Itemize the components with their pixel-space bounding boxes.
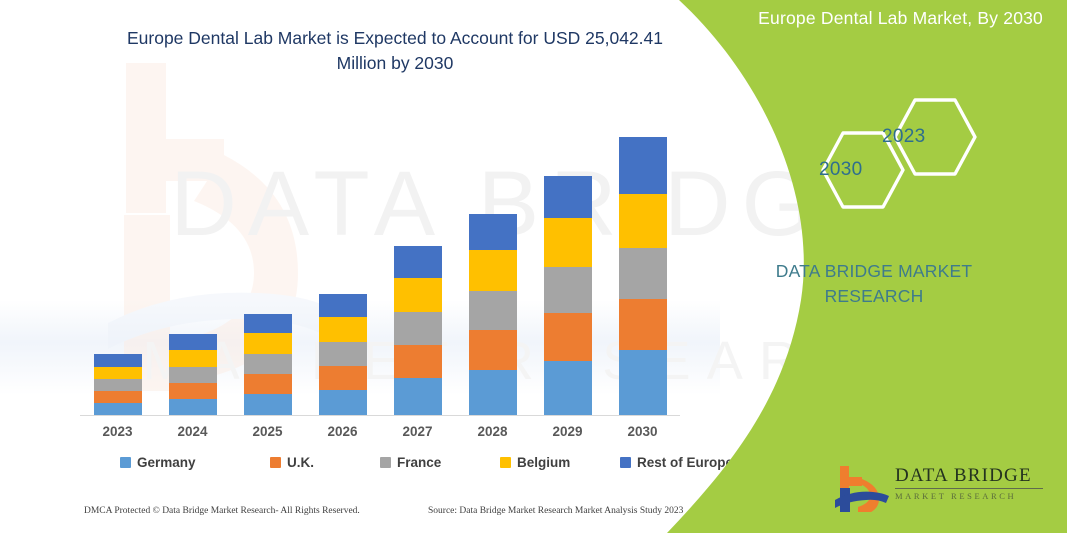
bar-segment-2029-germany <box>544 361 592 416</box>
bar-segment-2030-rest-of-europe <box>619 137 667 194</box>
chart-legend: GermanyU.K.FranceBelgiumRest of Europe <box>120 455 660 477</box>
legend-label: Germany <box>137 455 196 470</box>
bar-segment-2025-u-k <box>244 374 292 394</box>
bar-2029 <box>544 176 592 416</box>
bar-segment-2030-belgium <box>619 194 667 248</box>
legend-label: Belgium <box>517 455 570 470</box>
legend-swatch <box>500 457 511 468</box>
bar-segment-2028-france <box>469 291 517 330</box>
legend-item-belgium: Belgium <box>500 455 570 470</box>
legend-label: U.K. <box>287 455 314 470</box>
legend-swatch <box>120 457 131 468</box>
bar-segment-2028-germany <box>469 370 517 416</box>
bar-2028 <box>469 214 517 416</box>
legend-label: France <box>397 455 441 470</box>
bar-segment-2029-belgium <box>544 218 592 267</box>
logo-divider <box>895 488 1043 489</box>
x-axis-label-2026: 2026 <box>308 424 378 439</box>
x-axis-label-2027: 2027 <box>383 424 453 439</box>
x-axis-label-2029: 2029 <box>533 424 603 439</box>
bar-segment-2029-rest-of-europe <box>544 176 592 218</box>
bar-2023 <box>94 354 142 416</box>
bar-2026 <box>319 294 367 416</box>
bar-segment-2025-rest-of-europe <box>244 314 292 333</box>
x-axis-label-2024: 2024 <box>158 424 228 439</box>
bar-segment-2027-germany <box>394 378 442 416</box>
bar-segment-2026-rest-of-europe <box>319 294 367 317</box>
legend-swatch <box>380 457 391 468</box>
legend-swatch <box>270 457 281 468</box>
bar-segment-2024-belgium <box>169 350 217 367</box>
bar-segment-2026-u-k <box>319 366 367 390</box>
page-title: Europe Dental Lab Market is Expected to … <box>100 26 690 77</box>
bar-2025 <box>244 314 292 416</box>
brand-panel: Europe Dental Lab Market, By 2030 2023 2… <box>667 0 1067 533</box>
bar-2027 <box>394 246 442 416</box>
company-logo: DATA BRIDGE MARKET RESEARCH <box>835 462 1040 514</box>
legend-item-germany: Germany <box>120 455 196 470</box>
bar-segment-2027-france <box>394 312 442 345</box>
bar-segment-2030-u-k <box>619 299 667 350</box>
logo-line-2: MARKET RESEARCH <box>895 491 1045 502</box>
bar-segment-2023-belgium <box>94 367 142 379</box>
legend-item-france: France <box>380 455 441 470</box>
bar-segment-2025-belgium <box>244 333 292 354</box>
x-axis-label-2025: 2025 <box>233 424 303 439</box>
bar-segment-2023-france <box>94 379 142 391</box>
brand-name: DATA BRIDGE MARKET RESEARCH <box>729 259 1019 310</box>
bar-segment-2028-rest-of-europe <box>469 214 517 250</box>
bar-segment-2027-u-k <box>394 345 442 378</box>
bar-segment-2025-france <box>244 354 292 374</box>
bar-segment-2024-rest-of-europe <box>169 334 217 350</box>
bar-segment-2026-belgium <box>319 317 367 342</box>
legend-item-u-k: U.K. <box>270 455 314 470</box>
bar-segment-2024-france <box>169 367 217 383</box>
bar-segment-2028-belgium <box>469 250 517 291</box>
logo-line-1: DATA BRIDGE <box>895 466 1045 486</box>
bar-segment-2029-u-k <box>544 313 592 361</box>
x-axis-line <box>80 415 680 416</box>
bar-segment-2030-france <box>619 248 667 299</box>
x-axis-label-2028: 2028 <box>458 424 528 439</box>
footer-copyright: DMCA Protected © Data Bridge Market Rese… <box>84 506 360 516</box>
bar-segment-2029-france <box>544 267 592 313</box>
stacked-bar-chart <box>80 110 680 416</box>
logo-wordmark: DATA BRIDGE MARKET RESEARCH <box>895 466 1045 502</box>
brand-name-line2: RESEARCH <box>825 286 924 306</box>
x-axis-label-2023: 2023 <box>83 424 153 439</box>
footer-source: Source: Data Bridge Market Research Mark… <box>428 506 683 516</box>
bar-segment-2028-u-k <box>469 330 517 370</box>
bar-segment-2026-france <box>319 342 367 366</box>
footer: DMCA Protected © Data Bridge Market Rese… <box>0 506 700 526</box>
panel-heading: Europe Dental Lab Market, By 2030 <box>713 8 1043 29</box>
bar-segment-2025-germany <box>244 394 292 416</box>
bar-segment-2027-belgium <box>394 278 442 312</box>
bar-segment-2027-rest-of-europe <box>394 246 442 278</box>
brand-name-line1: DATA BRIDGE MARKET <box>776 261 972 281</box>
bar-2024 <box>169 334 217 416</box>
bar-segment-2023-rest-of-europe <box>94 354 142 367</box>
bar-segment-2023-u-k <box>94 391 142 403</box>
infographic-canvas: DATA BRIDGE MARKET RESEARCH Europe Denta… <box>0 0 1067 533</box>
legend-swatch <box>620 457 631 468</box>
bar-segment-2024-u-k <box>169 383 217 399</box>
bar-segment-2030-germany <box>619 350 667 416</box>
bar-segment-2026-germany <box>319 390 367 416</box>
bar-2030 <box>619 137 667 416</box>
data-bridge-logo-icon <box>835 464 891 512</box>
x-axis-labels: 20232024202520262027202820292030 <box>80 424 680 446</box>
bar-segment-2024-germany <box>169 399 217 416</box>
